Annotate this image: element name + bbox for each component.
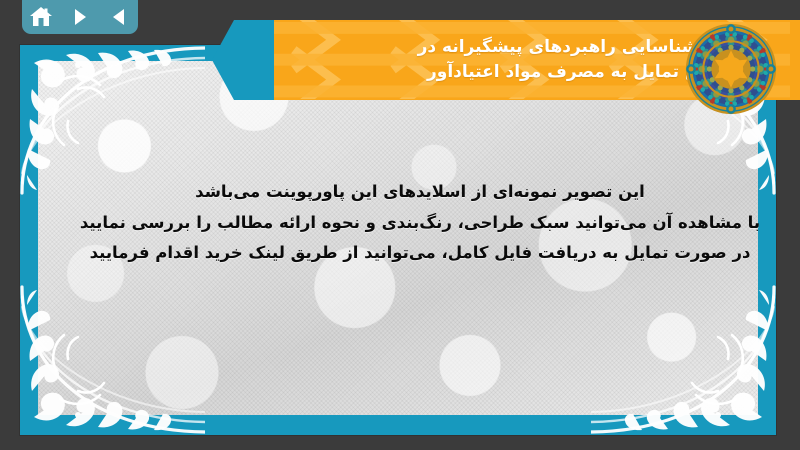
home-button[interactable] [26,4,56,30]
banner-arrow-shape [212,20,282,100]
triangle-left-icon [109,7,129,27]
slide-canvas: این تصویر نمونه‌ای از اسلایدهای این پاور… [20,45,776,435]
body-line-2: با مشاهده آن می‌توانید سبک طراحی، رنگ‌بن… [56,210,776,237]
body-line-3: در صورت تمایل به دریافت فایل کامل، می‌تو… [56,240,776,267]
slide-viewer: این تصویر نمونه‌ای از اسلایدهای این پاور… [0,0,800,450]
next-slide-button[interactable] [65,4,95,30]
home-icon [29,6,53,28]
ornamental-medallion [684,22,778,116]
previous-slide-button[interactable] [104,4,134,30]
triangle-right-icon [70,7,90,27]
body-line-1: این تصویر نمونه‌ای از اسلایدهای این پاور… [56,179,776,206]
slide-navigation-bar [22,0,138,34]
slide-body-text: این تصویر نمونه‌ای از اسلایدهای این پاور… [56,175,776,271]
